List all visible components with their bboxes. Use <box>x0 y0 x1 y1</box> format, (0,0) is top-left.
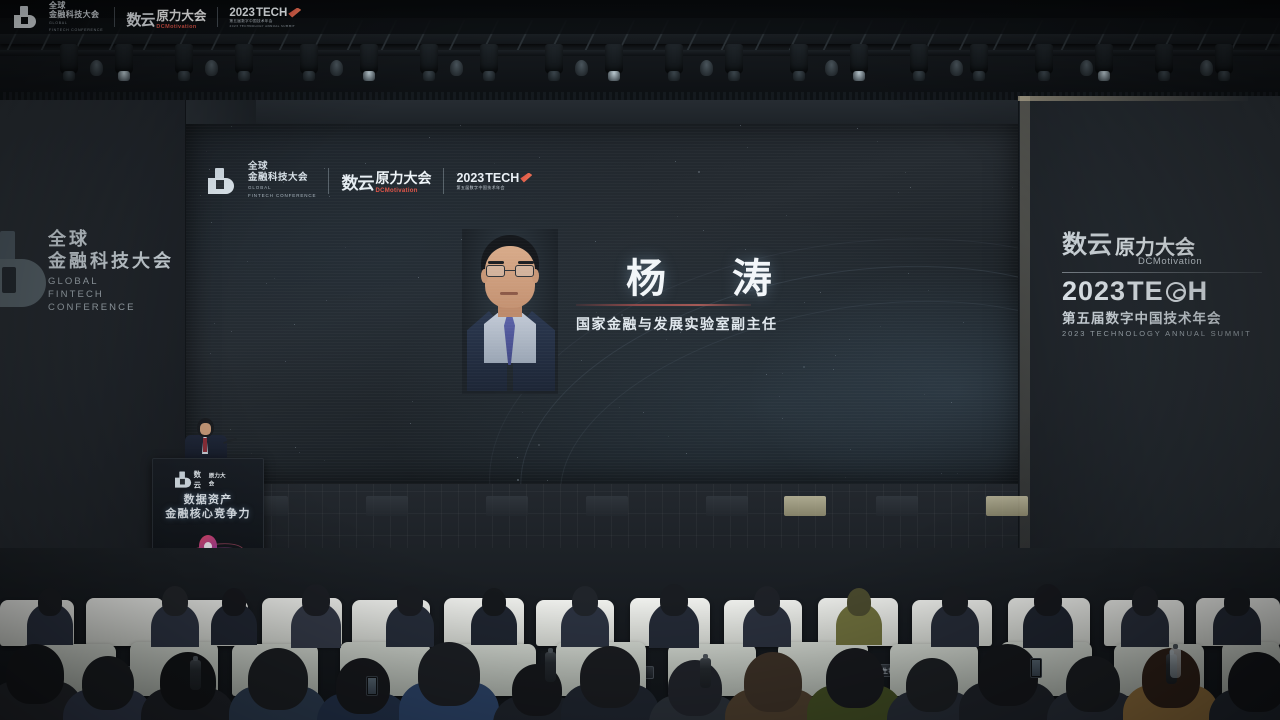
audience-person <box>930 586 980 644</box>
header-divider-1 <box>114 7 115 27</box>
smartphone <box>1030 658 1042 678</box>
audience-person <box>470 588 518 644</box>
right-sign-tech-post: H <box>1188 277 1209 306</box>
gfc-mark-icon <box>14 6 38 28</box>
podium-title: 数据资产 金融核心竞争力 <box>153 493 263 521</box>
header-gfc-text: 全球 金融科技大会 GLOBAL FINTECH CONFERENCE <box>49 1 103 33</box>
broadcast-header-bar: 全球 金融科技大会 GLOBAL FINTECH CONFERENCE 数云 原… <box>0 0 1280 34</box>
left-wall-sign: 全球 金融科技大会 GLOBAL FINTECH CONFERENCE <box>8 225 178 315</box>
audience-person <box>26 588 74 644</box>
right-sign-year: 2023 <box>1062 277 1126 306</box>
audience-person <box>1120 586 1170 644</box>
water-bottle <box>190 660 201 690</box>
header-divider-2 <box>217 7 218 27</box>
gfc-mark-icon <box>175 471 191 487</box>
at-circle-icon <box>1163 279 1189 305</box>
header-event-logo: 数云 原力大会 DCMotivation <box>126 5 206 30</box>
audience-person <box>150 586 200 644</box>
water-bottle <box>700 658 711 688</box>
wall-light-strip <box>1020 96 1030 602</box>
header-tech-logo: 2023 TECH 第五届数字中国技术年会 2023 TECHNOLOGY AN… <box>229 7 301 28</box>
audience-person <box>1022 584 1074 644</box>
right-sign-divider <box>1062 272 1262 273</box>
water-bottle <box>545 652 556 682</box>
audience-person <box>1212 588 1262 644</box>
swoosh-icon <box>288 8 301 18</box>
podium-logo-row: 数云 原力大会 <box>175 469 230 490</box>
right-sign-sub-cn: 第五届数字中国技术年会 <box>1062 307 1274 327</box>
audience-person <box>742 586 792 644</box>
audience-person <box>228 648 328 720</box>
audience-person <box>290 584 342 644</box>
conference-hall-scene: 全球 金融科技大会 GLOBAL FINTECH CONFERENCE 数云 原… <box>0 0 1280 720</box>
right-sign-dcmotivation: DCMotivation <box>1138 256 1274 267</box>
left-sign-cn: 全球 金融科技大会 <box>48 229 174 273</box>
audience-person <box>140 652 236 720</box>
left-sign-en: GLOBAL FINTECH CONFERENCE <box>48 275 178 314</box>
right-sign-yuanli: 原力大会 <box>1115 236 1195 258</box>
wall-panel-right <box>1018 96 1280 602</box>
audience-person <box>210 588 258 644</box>
audience-person <box>1208 652 1280 720</box>
right-sign-shuyun: 数云 <box>1062 232 1112 258</box>
audience-person <box>316 658 410 720</box>
audience-person <box>835 588 883 644</box>
audience-person <box>560 586 610 644</box>
right-sign-tech: 2023 TE H <box>1062 277 1274 306</box>
right-sign-tech-pre: TE <box>1127 277 1164 306</box>
audience-person <box>560 646 660 720</box>
audience-person <box>385 586 435 644</box>
audience-person <box>398 642 500 720</box>
water-bottle <box>1170 648 1181 678</box>
right-wall-sign: 数云 原力大会 DCMotivation 2023 TE H 第五届数字中国技术… <box>1062 232 1274 342</box>
podium-logo-shuyun: 数云 <box>194 469 207 490</box>
gfc-mark-icon <box>0 231 50 305</box>
audience-area: 中国民生银行中国进出口银行中信银行中国民生银行中国进出口银行 <box>0 548 1280 720</box>
wall-light-top <box>1018 96 1248 101</box>
podium-logo-sub: 原力大会 <box>209 471 230 487</box>
right-sign-sub-en: 2023 TECHNOLOGY ANNUAL SUMMIT <box>1062 329 1274 338</box>
led-screen: 全球 金融科技大会 GLOBAL FINTECH CONFERENCE 数云 原… <box>186 124 1018 484</box>
led-scanlines <box>186 124 1018 484</box>
smartphone <box>366 676 378 696</box>
audience-person <box>958 644 1058 720</box>
audience-person <box>648 584 700 644</box>
